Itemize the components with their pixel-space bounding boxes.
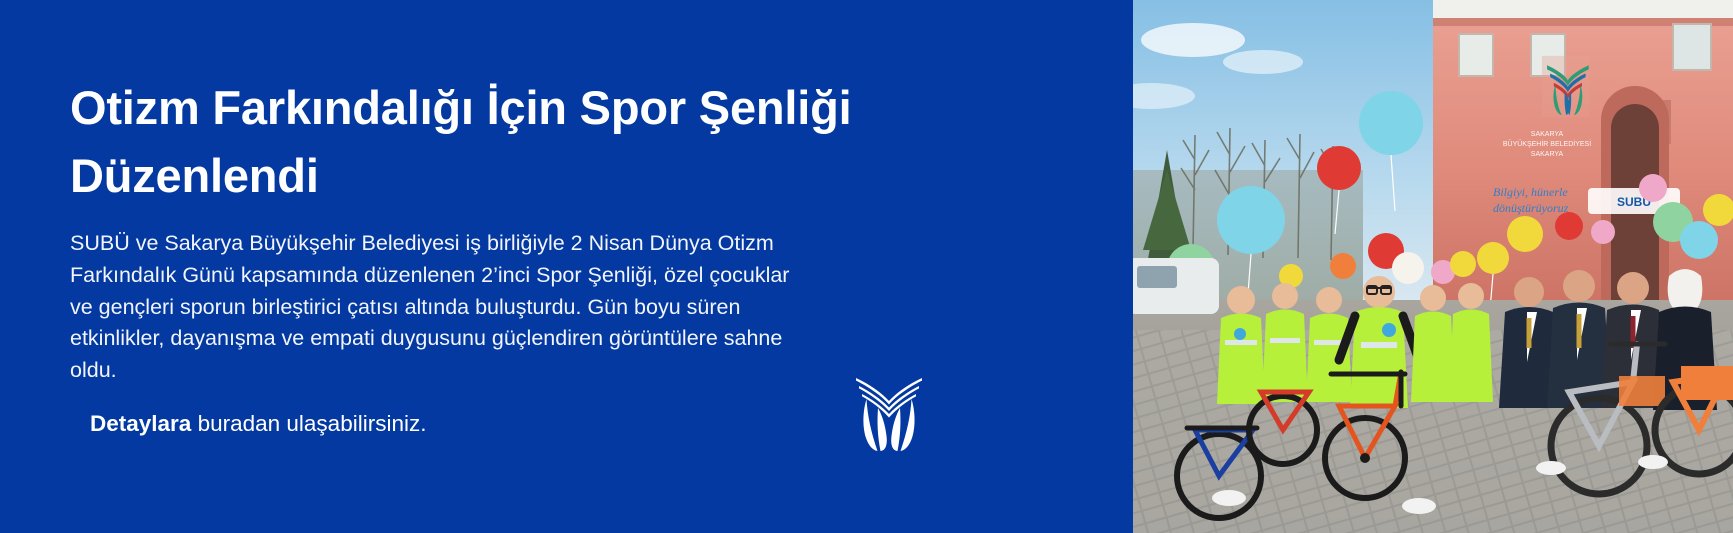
details-link-rest: buradan ulaşabilirsiniz. [191, 411, 426, 436]
svg-text:Bilgiyi, hünerle: Bilgiyi, hünerle [1493, 185, 1568, 199]
article-summary: SUBÜ ve Sakarya Büyükşehir Belediyesi iş… [70, 228, 790, 387]
svg-text:SAKARYA: SAKARYA [1531, 151, 1564, 158]
details-link[interactable]: Detaylara buradan ulaşabilirsiniz. [90, 408, 426, 440]
subu-tulip-logo-icon [851, 372, 927, 454]
text-panel: Otizm Farkındalığı İçin Spor Şenliği Düz… [0, 0, 1133, 533]
svg-text:SAKARYA: SAKARYA [1531, 131, 1564, 138]
event-photo: SAKARYA BÜYÜKŞEHİR BELEDİYESİ SAKARYA Bi… [1133, 0, 1733, 533]
svg-text:dönüştürüyoruz: dönüştürüyoruz [1493, 201, 1569, 215]
details-link-strong: Detaylara [90, 411, 191, 436]
page-title: Otizm Farkındalığı İçin Spor Şenliği Düz… [70, 74, 970, 210]
svg-text:BÜYÜKŞEHİR BELEDİYESİ: BÜYÜKŞEHİR BELEDİYESİ [1503, 139, 1591, 148]
news-banner: Otizm Farkındalığı İçin Spor Şenliği Düz… [0, 0, 1733, 533]
